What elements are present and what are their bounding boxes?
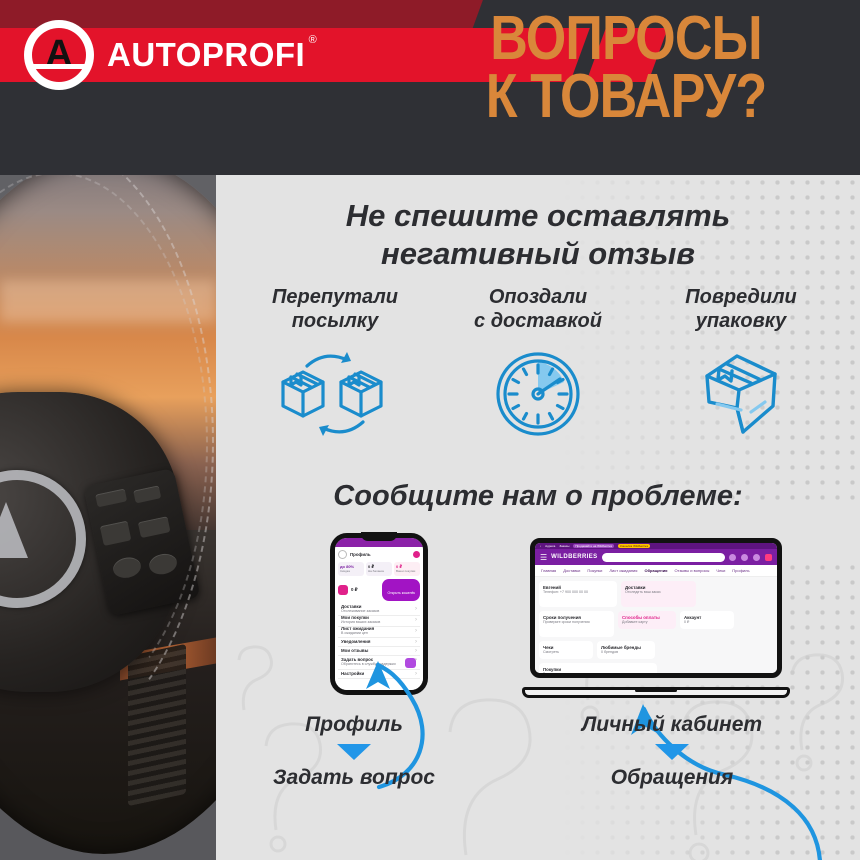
step-labels: Профиль Задать вопрос Личный кабинет Обр… [216, 713, 860, 833]
phone-menu-row[interactable]: Мои покупки История ваших заказов [338, 616, 420, 627]
feature-label-line-2: с доставкой [474, 310, 602, 332]
wb-card[interactable]: Покупки Все ваши заказы в одном месте [539, 663, 657, 678]
down-arrow-icon [337, 744, 371, 760]
wb-card[interactable]: Способы оплаты Добавьте карту [618, 611, 676, 629]
feature-label-line-1: Перепутали [272, 286, 398, 308]
registered-mark: ® [309, 34, 318, 46]
wb-nav-item[interactable]: Профиль [732, 568, 749, 573]
feature-label-line-2: упаковку [696, 310, 786, 332]
wb-header: ☰ WILDBERRIES [535, 549, 777, 565]
page-title-line-2: К ТОВАРУ? [450, 68, 803, 126]
clock-icon [492, 348, 584, 440]
wb-card[interactable]: Чеки Смотреть [539, 641, 593, 659]
wb-nav-item[interactable]: Доставки [563, 568, 580, 573]
wb-wordmark: WILDBERRIES [551, 554, 597, 560]
phone-screen-title: Профиль [350, 552, 371, 557]
step-phone-labels: Профиль Задать вопрос [224, 713, 484, 790]
wb-dashboard-cards: Евгений Телефон: +7 900 000 00 00 Достав… [535, 577, 777, 678]
feature-item-damaged-packaging: Повредили упаковку [646, 285, 836, 444]
phone-open-wallet-button[interactable]: Открыть кошелёк [382, 579, 420, 601]
feature-item-late-delivery: Опоздали с доставкой [443, 285, 633, 444]
autoprofi-mark-icon: A [24, 20, 94, 90]
brand-name: AUTOPROFI [107, 36, 305, 73]
wb-nav-item[interactable]: Лист ожидания [609, 568, 637, 573]
feature-label-line-1: Повредили [685, 286, 797, 308]
phone-menu-row[interactable]: Лист ожидания В ожидании цен [338, 627, 420, 638]
subheading-line-2: негативный отзыв [381, 236, 695, 271]
wb-card[interactable]: Сроки получения Проверьте сроки получени… [539, 611, 614, 637]
phone-menu-row[interactable]: Уведомления [338, 638, 420, 647]
down-arrow-icon [655, 744, 689, 760]
wb-nav-item[interactable]: Отзывы и вопросы [675, 568, 710, 573]
promo-banner: A AUTOPROFI ® ВОПРОСЫ К ТОВАРУ? [0, 0, 860, 860]
wb-card[interactable]: Любимые бренды 0 брендов [597, 641, 655, 659]
step-label-ask-question: Задать вопрос [224, 766, 484, 790]
phone-menu-row[interactable]: Настройки [338, 670, 420, 679]
step-label-requests: Обращения [542, 766, 802, 790]
step-laptop-labels: Личный кабинет Обращения [542, 713, 802, 790]
phone-stat-caption: Скидка [340, 569, 362, 574]
page-title: ВОПРОСЫ К ТОВАРУ? [416, 10, 836, 127]
feature-label-line-2: посылку [292, 310, 379, 332]
brand-logo: A AUTOPROFI ® [24, 20, 305, 90]
phone-wallet-balance: 0 ₽ [351, 587, 358, 593]
wb-card[interactable]: Доставки Отследить ваш заказ [621, 581, 696, 607]
wb-nav-item[interactable]: Покупки [587, 568, 602, 573]
phone-stat-caption: Ваши покупки [396, 569, 418, 574]
phone-menu-row-ask-question[interactable]: Задать вопрос Обратитесь в службу поддер… [338, 656, 420, 670]
feature-label-line-1: Опоздали [489, 286, 587, 308]
laptop-mockup-wildberries-account[interactable]: • Адреса Заказы Продавайте на Wildberrie… [522, 538, 790, 698]
phone-menu-row[interactable]: Доставки Отслеживание заказов [338, 605, 420, 616]
wb-nav-bar: Главная Доставки Покупки Лист ожидания О… [535, 565, 777, 577]
wb-search-input[interactable] [602, 553, 725, 562]
phone-mockup-wildberries-profile[interactable]: Профиль до 80% Скидка 0 ₽ На балансе [330, 533, 428, 695]
subheading-line-1: Не спешите оставлять [346, 198, 730, 233]
problem-reasons-list: Перепутали посылку [240, 285, 836, 444]
feature-item-mixed-up-parcel: Перепутали посылку [240, 285, 430, 444]
brand-wordmark: AUTOPROFI ® [107, 36, 305, 74]
step-label-personal-account: Личный кабинет [542, 713, 802, 737]
wb-card[interactable]: Евгений Телефон: +7 900 000 00 00 [539, 581, 617, 607]
wb-nav-item-obrashcheniya[interactable]: Обращения [644, 568, 667, 573]
two-boxes-exchange-icon [277, 348, 393, 440]
cta-heading: Сообщите нам о проблеме: [216, 480, 860, 513]
menu-icon[interactable]: ☰ [540, 553, 547, 562]
wb-nav-item[interactable]: Чеки [716, 568, 725, 573]
step-label-profile: Профиль [224, 713, 484, 737]
phone-menu-row[interactable]: Мои отзывы [338, 647, 420, 656]
wb-nav-item[interactable]: Главная [541, 568, 556, 573]
main-content-panel: Не спешите оставлять негативный отзыв Пе… [216, 175, 860, 860]
damaged-box-icon [693, 346, 789, 442]
subheading: Не спешите оставлять негативный отзыв [216, 197, 860, 274]
page-title-line-1: ВОПРОСЫ [450, 10, 803, 68]
phone-stat-caption: На балансе [368, 569, 390, 574]
top-banner: A AUTOPROFI ® ВОПРОСЫ К ТОВАРУ? [0, 0, 860, 175]
wb-card[interactable]: Аккаунт 0 ₽ [680, 611, 734, 629]
